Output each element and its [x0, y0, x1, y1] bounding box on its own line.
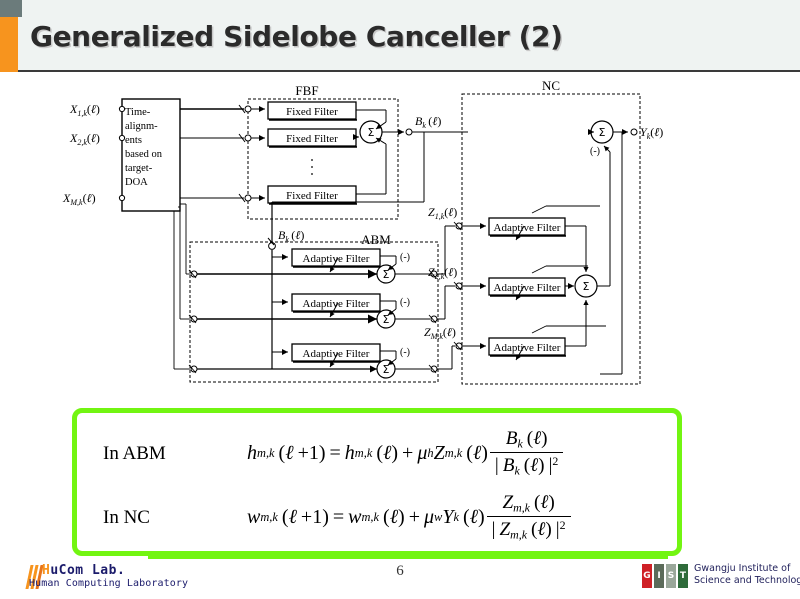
signal-label-z1: Z1,k(ℓ)	[428, 205, 457, 221]
hucom-logo-name: HuCom Lab.	[42, 563, 125, 578]
input-signal-label-1: X1,k(ℓ)	[69, 102, 100, 118]
page-title: Generalized Sidelobe Canceller (2)	[30, 20, 770, 53]
hucom-logo-subtitle: Human Computing Laboratory	[29, 578, 188, 589]
time-alignment-line-4: target-	[125, 163, 153, 174]
equation-math-abm: hm,k(ℓ +1)= hm,k(ℓ)+ μhZm,k(ℓ) Bk(ℓ) |Bk…	[247, 427, 565, 479]
update-equations-box: In ABM hm,k(ℓ +1)= hm,k(ℓ)+ μhZm,k(ℓ) Bk…	[72, 408, 682, 556]
abm-group-label: ABM	[361, 232, 391, 247]
gist-logo: G I S T Gwangju Institute of Science and…	[642, 562, 792, 592]
footer-accent-bar	[148, 552, 668, 559]
fixed-filter-label-1: Fixed Filter	[286, 106, 338, 118]
svg-text:XM,k(ℓ): XM,k(ℓ)	[62, 191, 96, 207]
time-alignment-line-3: based on	[125, 149, 163, 160]
fixed-filter-label-3: Fixed Filter	[286, 190, 338, 202]
time-alignment-line-2: ents	[125, 135, 142, 146]
gist-letter-t: T	[678, 564, 688, 588]
abm-filter-label-1: Adaptive Filter	[303, 253, 370, 265]
time-alignment-line-0: Time-	[125, 107, 151, 118]
svg-text:Bk (ℓ): Bk (ℓ)	[278, 228, 304, 244]
abm-filter-label-3: Adaptive Filter	[303, 348, 370, 360]
hucom-lab-logo: HuCom Lab. Human Computing Laboratory	[28, 563, 218, 595]
nc-filter-sum-symbol: Σ	[583, 280, 590, 293]
nc-sum-symbol: Σ	[599, 126, 606, 139]
svg-text:X2,k(ℓ): X2,k(ℓ)	[69, 131, 100, 147]
signal-label-yk: Yk(ℓ)	[640, 125, 663, 141]
time-alignment-line-1: alignm-	[125, 121, 158, 132]
gist-letter-i: I	[654, 564, 664, 588]
equation-label-abm: In ABM	[103, 443, 166, 465]
fixed-filter-label-2: Fixed Filter	[286, 133, 338, 145]
title-underline	[18, 70, 800, 72]
abm-sum-symbol-3: Σ	[383, 363, 390, 376]
abm-filter-label-2: Adaptive Filter	[303, 298, 370, 310]
equation-row-nc: In NC wm,k(ℓ +1)= wm,k(ℓ)+ μwYk(ℓ) Zm,k(…	[77, 487, 677, 547]
nc-group-label: NC	[542, 78, 560, 93]
equation-math-nc: wm,k(ℓ +1)= wm,k(ℓ)+ μwYk(ℓ) Zm,k(ℓ) |Zm…	[247, 491, 573, 543]
svg-text:Z1,k(ℓ): Z1,k(ℓ)	[428, 205, 457, 221]
svg-text:ZM,k(ℓ): ZM,k(ℓ)	[424, 325, 456, 341]
gist-text-line1: Gwangju Institute of	[694, 563, 800, 575]
gist-letter-s: S	[666, 564, 676, 588]
fbf-group-label: FBF	[295, 83, 318, 98]
svg-text:Z2,k(ℓ): Z2,k(ℓ)	[428, 265, 457, 281]
nc-filter-label-1: Adaptive Filter	[494, 222, 561, 234]
svg-text:Yk(ℓ): Yk(ℓ)	[640, 125, 663, 141]
input-signal-label-2: X2,k(ℓ)	[69, 131, 100, 147]
abm-minus-sign-3: (-)	[400, 347, 410, 358]
hucom-logo-rest: uCom Lab.	[50, 563, 125, 578]
title-decoration-gray-block	[0, 0, 22, 17]
gist-logo-text: Gwangju Institute of Science and Technol…	[694, 563, 800, 587]
abm-sum-symbol-2: Σ	[383, 313, 390, 326]
abm-minus-sign-2: (-)	[400, 297, 410, 308]
nc-filter-label-3: Adaptive Filter	[494, 342, 561, 354]
signal-label-zm: ZM,k(ℓ)	[424, 325, 456, 341]
signal-label-bk-abm: Bk (ℓ)	[278, 228, 304, 244]
equation-label-nc: In NC	[103, 507, 150, 529]
nc-filter-label-2: Adaptive Filter	[494, 282, 561, 294]
title-decoration-orange-bar	[0, 17, 18, 72]
svg-text:X1,k(ℓ): X1,k(ℓ)	[69, 102, 100, 118]
gist-blocks-icon: G I S T	[642, 564, 688, 588]
fbf-sum-symbol: Σ	[368, 126, 375, 139]
signal-label-z2: Z2,k(ℓ)	[428, 265, 457, 281]
gist-letter-g: G	[642, 564, 652, 588]
time-alignment-line-5: DOA	[125, 177, 148, 188]
input-signal-label-m: XM,k(ℓ)	[62, 191, 96, 207]
equation-row-abm: In ABM hm,k(ℓ +1)= hm,k(ℓ)+ μhZm,k(ℓ) Bk…	[77, 423, 677, 483]
abm-sum-symbol-1: Σ	[383, 268, 390, 281]
abm-minus-sign-1: (-)	[400, 252, 410, 263]
signal-label-bk-top: Bk (ℓ)	[415, 114, 441, 130]
nc-minus-sign: (-)	[590, 146, 600, 157]
svg-text:Bk (ℓ): Bk (ℓ)	[415, 114, 441, 130]
gist-text-line2: Science and Technology	[694, 575, 800, 587]
gsc-block-diagram: FBF NC ABM Time- alignm- ents based on t…	[0, 74, 800, 404]
